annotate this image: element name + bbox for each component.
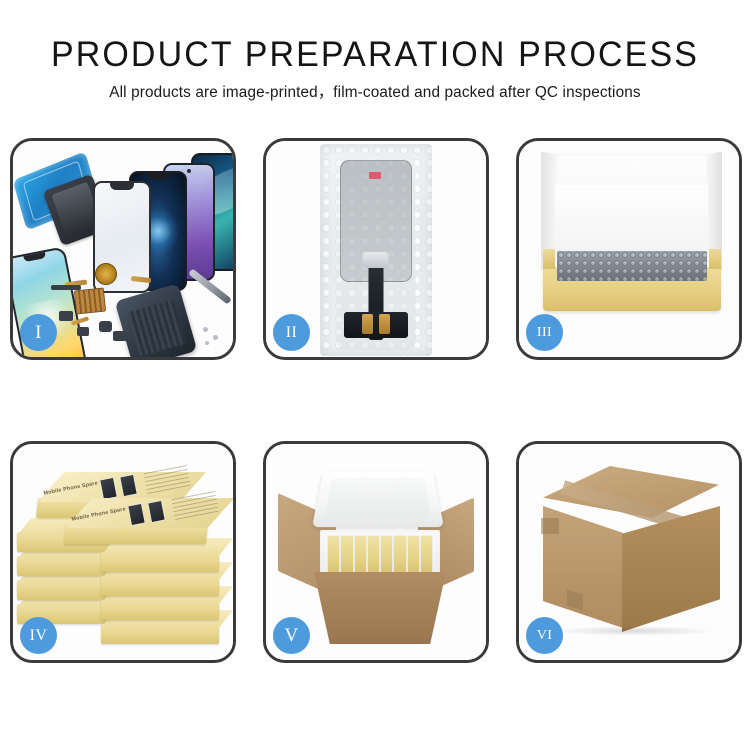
carton-seam-top [541,518,559,534]
process-step-3[interactable]: III [516,138,742,360]
header: PRODUCT PREPARATION PROCESS All products… [0,34,750,104]
step-badge-6: VI [526,617,563,654]
screw-icon [213,335,218,340]
connector-pin-left [362,314,373,334]
process-step-grid: I II [10,138,742,663]
bubble-film-contents-icon [557,251,707,281]
process-step-6[interactable]: VI [516,441,742,663]
process-step-2[interactable]: II [263,138,489,360]
stacked-box [101,600,219,620]
step-badge-2: II [273,314,310,351]
stacked-box [101,552,219,572]
page-title: PRODUCT PREPARATION PROCESS [11,34,739,76]
chip-array-part-icon [74,287,106,314]
screw-icon [203,327,208,332]
yellow-box-tray-icon [543,267,721,311]
small-part-icon [59,311,73,321]
connector-pin-right [379,314,390,334]
stacked-box [101,576,219,596]
small-part-icon [99,321,112,332]
phone-back-housing-icon [115,283,198,360]
product-preparation-infographic: PRODUCT PREPARATION PROCESS All products… [0,0,750,750]
step-badge-3: III [526,314,563,351]
small-part-icon [77,327,89,336]
carton-body-icon [314,572,446,644]
bag-inner [336,154,416,350]
carton-shadow [549,626,719,636]
small-part-icon [113,331,127,341]
stacked-box-printed [64,524,208,544]
stacked-box [101,624,219,644]
carton-right-face [622,506,720,632]
process-step-4[interactable]: Mobile Phone Spare Parts Mobile Phone Sp… [10,441,236,663]
red-label-icon [369,172,381,179]
tray-lip-left [543,249,555,269]
bubble-wrap-bag-icon [320,144,432,356]
process-step-1[interactable]: I [10,138,236,360]
process-step-5[interactable]: V [263,441,489,663]
foam-lid-icon [312,472,444,527]
step-badge-4: IV [20,617,57,654]
foam-sheet-icon [555,185,708,261]
page-subtitle: All products are image-printed，film-coat… [0,82,750,104]
tray-lip-right [709,249,721,269]
step-badge-5: V [273,617,310,654]
screw-icon [205,341,209,345]
connector-board-icon [344,312,408,338]
small-part-icon [51,285,81,290]
step-badge-1: I [20,314,57,351]
